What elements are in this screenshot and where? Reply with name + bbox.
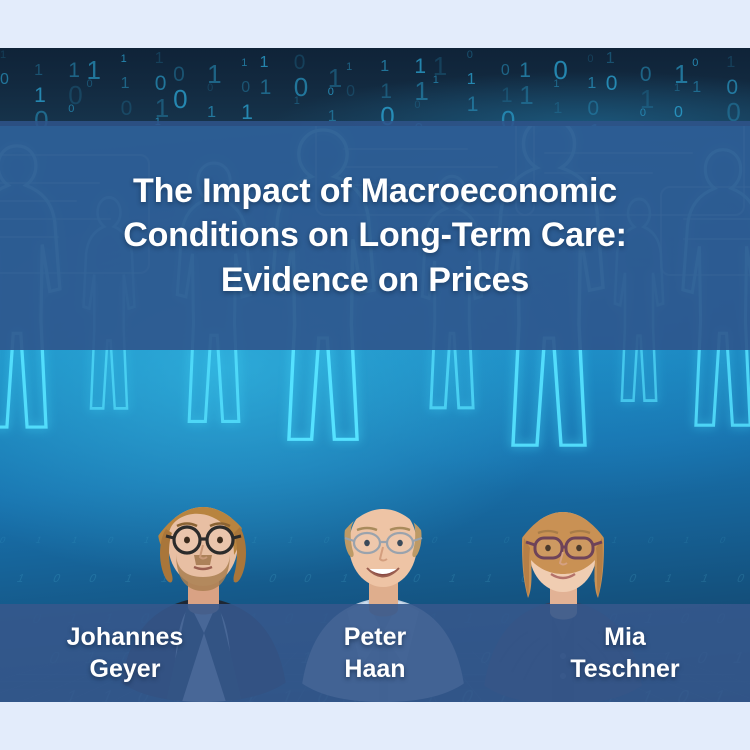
binary-digit: 1 bbox=[501, 85, 513, 106]
binary-digit: 1 bbox=[260, 55, 269, 71]
floor-binary-digit: 1 bbox=[34, 536, 43, 545]
speaker-first-name: Mia bbox=[500, 621, 750, 654]
binary-digit: 1 bbox=[519, 60, 531, 81]
binary-digit: 0 bbox=[606, 73, 618, 94]
binary-digit: 0 bbox=[241, 80, 250, 96]
title-line-3: Evidence on Prices bbox=[123, 258, 627, 302]
binary-digit: 0 bbox=[640, 64, 652, 85]
binary-digit: 1 bbox=[121, 54, 127, 65]
floor-binary-digit: 1 bbox=[662, 574, 673, 585]
binary-digit: 1 bbox=[467, 72, 476, 88]
speaker-first-name: Johannes bbox=[0, 621, 250, 654]
binary-digit: 0 bbox=[692, 58, 698, 69]
binary-digit: 1 bbox=[346, 62, 352, 73]
poster-artwork: 1011010011011010110010110101100110101011… bbox=[0, 48, 750, 702]
binary-digit: 0 bbox=[501, 63, 510, 79]
binary-digit: 1 bbox=[553, 79, 559, 90]
binary-digit: 0 bbox=[294, 52, 306, 73]
binary-digit: 0 bbox=[467, 50, 473, 61]
binary-digit-field: 1011010011011010110010110101100110101011… bbox=[0, 48, 750, 126]
binary-digit: 0 bbox=[346, 84, 355, 100]
binary-digit: 0 bbox=[587, 54, 593, 65]
binary-digit: 0 bbox=[207, 83, 213, 94]
binary-digit: 0 bbox=[0, 72, 9, 88]
speaker-name-3: Mia Teschner bbox=[500, 621, 750, 686]
binary-digit: 0 bbox=[726, 77, 738, 98]
binary-digit: 1 bbox=[692, 80, 701, 96]
binary-digit: 1 bbox=[433, 75, 439, 86]
binary-digit: 0 bbox=[328, 87, 334, 98]
floor-binary-digit: 1 bbox=[682, 536, 691, 545]
floor-binary-digit: 0 bbox=[734, 574, 745, 585]
speaker-last-name: Teschner bbox=[500, 653, 750, 686]
binary-digit: 0 bbox=[173, 86, 187, 112]
binary-digit: 0 bbox=[155, 73, 167, 94]
floor-binary-digit: 0 bbox=[86, 574, 97, 585]
binary-digit: 1 bbox=[674, 83, 680, 94]
floor-binary-digit: 0 bbox=[106, 536, 115, 545]
binary-digit: 1 bbox=[380, 81, 392, 102]
binary-digit: 1 bbox=[467, 94, 479, 115]
binary-digit: 0 bbox=[68, 104, 74, 115]
binary-digit: 1 bbox=[207, 105, 216, 121]
floor-binary-digit: 1 bbox=[14, 574, 25, 585]
binary-digit: 1 bbox=[260, 77, 272, 98]
binary-digit: 1 bbox=[380, 59, 389, 75]
binary-digit: 0 bbox=[674, 105, 683, 121]
binary-digit: 0 bbox=[87, 79, 93, 90]
binary-digit: 1 bbox=[155, 51, 164, 67]
speaker-first-name: Peter bbox=[250, 621, 500, 654]
poster-canvas: 1011010011011010110010110101100110101011… bbox=[0, 0, 750, 750]
speaker-last-name: Haan bbox=[250, 653, 500, 686]
speaker-name-2: Peter Haan bbox=[250, 621, 500, 686]
binary-digit: 1 bbox=[414, 56, 426, 77]
floor-binary-digit: 1 bbox=[698, 574, 709, 585]
binary-digit: 1 bbox=[587, 76, 596, 92]
binary-digit: 1 bbox=[121, 76, 130, 92]
speaker-name-1: Johannes Geyer bbox=[0, 621, 250, 686]
binary-digit: 0 bbox=[121, 98, 133, 119]
binary-digit: 1 bbox=[68, 60, 80, 81]
speaker-names-band: Johannes Geyer Peter Haan Mia Teschner bbox=[0, 604, 750, 702]
binary-digit: 1 bbox=[294, 96, 300, 107]
binary-digit: 1 bbox=[34, 85, 46, 106]
floor-binary-digit: 0 bbox=[50, 574, 61, 585]
binary-digit: 0 bbox=[587, 98, 599, 119]
title-line-1: The Impact of Macroeconomic bbox=[123, 169, 627, 213]
binary-digit: 1 bbox=[34, 63, 43, 79]
binary-digit: 1 bbox=[0, 50, 6, 61]
title-band: The Impact of Macroeconomic Conditions o… bbox=[0, 121, 750, 350]
speaker-last-name: Geyer bbox=[0, 653, 250, 686]
binary-digit: 0 bbox=[173, 64, 185, 85]
binary-code-band: 1011010011011010110010110101100110101011… bbox=[0, 48, 750, 126]
binary-digit: 1 bbox=[241, 58, 247, 69]
floor-binary-digit: 0 bbox=[718, 536, 727, 545]
binary-digit: 0 bbox=[640, 108, 646, 119]
binary-digit: 0 bbox=[414, 100, 420, 111]
binary-digit: 1 bbox=[606, 51, 615, 67]
binary-digit: 1 bbox=[553, 101, 562, 117]
binary-digit: 1 bbox=[726, 55, 735, 71]
poster-title: The Impact of Macroeconomic Conditions o… bbox=[83, 169, 667, 302]
title-line-2: Conditions on Long-Term Care: bbox=[123, 213, 627, 257]
binary-digit: 1 bbox=[241, 102, 253, 123]
floor-binary-digit: 0 bbox=[0, 536, 7, 545]
floor-binary-digit: 1 bbox=[70, 536, 79, 545]
binary-digit: 1 bbox=[519, 82, 533, 108]
